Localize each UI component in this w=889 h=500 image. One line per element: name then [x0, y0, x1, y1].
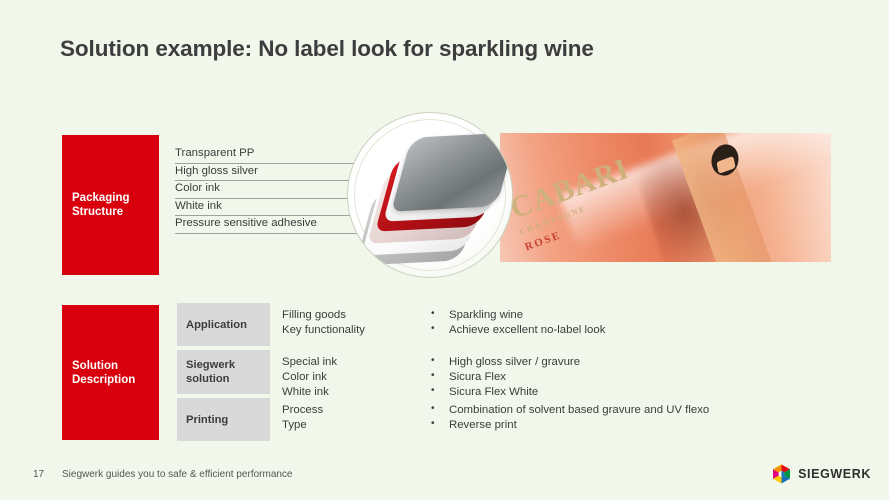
table-row: Application Filling goods Key functional… — [177, 303, 817, 346]
solution-label-line1: Solution — [72, 360, 118, 372]
packaging-label-line1: Packaging — [72, 192, 130, 204]
row-key-printing: Printing — [177, 398, 270, 441]
bullet-item: Achieve excellent no-label look — [427, 323, 605, 338]
row-key-application: Application — [177, 303, 270, 346]
middle-item: Special ink — [282, 355, 337, 370]
bullet-item: Reverse print — [427, 418, 709, 433]
layer-high-gloss-silver — [391, 132, 513, 211]
middle-item: Type — [282, 418, 323, 433]
row-middle-application: Filling goods Key functionality — [282, 308, 365, 338]
row-key-label: Application — [186, 318, 247, 332]
row-key-label: Printing — [186, 413, 228, 427]
slide-number: 17 — [33, 469, 44, 480]
siegwerk-logo: SIEGWERK — [772, 464, 871, 484]
callout-label-transparent-pp: Transparent PP — [175, 146, 254, 161]
bullet-item: High gloss silver / gravure — [427, 355, 580, 370]
packaging-label-line2: Structure — [72, 206, 123, 218]
row-bullets-application: Sparkling wine Achieve excellent no-labe… — [427, 308, 605, 338]
middle-item: Color ink — [282, 370, 337, 385]
middle-item: Filling goods — [282, 308, 365, 323]
bullet-item: Sparkling wine — [427, 308, 605, 323]
footer-tagline: Siegwerk guides you to safe & efficient … — [62, 469, 293, 480]
row-key-label-line2: solution — [186, 373, 230, 385]
row-middle-printing: Process Type — [282, 403, 323, 433]
callout-label-color-ink: Color ink — [175, 181, 220, 196]
table-row: Siegwerk solution Special ink Color ink … — [177, 350, 817, 394]
bullet-item: Sicura Flex — [427, 370, 580, 385]
row-middle-siegwerk-solution: Special ink Color ink White ink — [282, 355, 337, 399]
solution-label-line2: Description — [72, 374, 135, 386]
siegwerk-cube-icon — [772, 464, 791, 484]
solution-description-table: Application Filling goods Key functional… — [177, 303, 817, 441]
layer-stack-illustration — [347, 112, 552, 280]
magnifier-circle — [347, 112, 513, 278]
row-bullets-siegwerk-solution: High gloss silver / gravure Sicura Flex … — [427, 355, 580, 399]
row-bullets-printing: Combination of solvent based gravure and… — [427, 403, 709, 433]
row-key-label-line1: Siegwerk — [186, 359, 235, 371]
siegwerk-wordmark: SIEGWERK — [798, 467, 871, 481]
middle-item: Key functionality — [282, 323, 365, 338]
bullet-item: Combination of solvent based gravure and… — [427, 403, 709, 418]
film-layer-stack — [366, 133, 508, 261]
page-title: Solution example: No label look for spar… — [60, 36, 594, 62]
callout-label-pressure-sensitive-adhesive: Pressure sensitive adhesive — [175, 216, 317, 231]
callout-label-white-ink: White ink — [175, 199, 222, 214]
callout-label-high-gloss-silver: High gloss silver — [175, 164, 258, 179]
packaging-structure-label-block: Packaging Structure — [62, 135, 159, 275]
table-row: Printing Process Type Combination of sol… — [177, 398, 817, 441]
solution-description-label-block: Solution Description — [62, 305, 159, 440]
middle-item: Process — [282, 403, 323, 418]
row-key-siegwerk-solution: Siegwerk solution — [177, 350, 270, 394]
